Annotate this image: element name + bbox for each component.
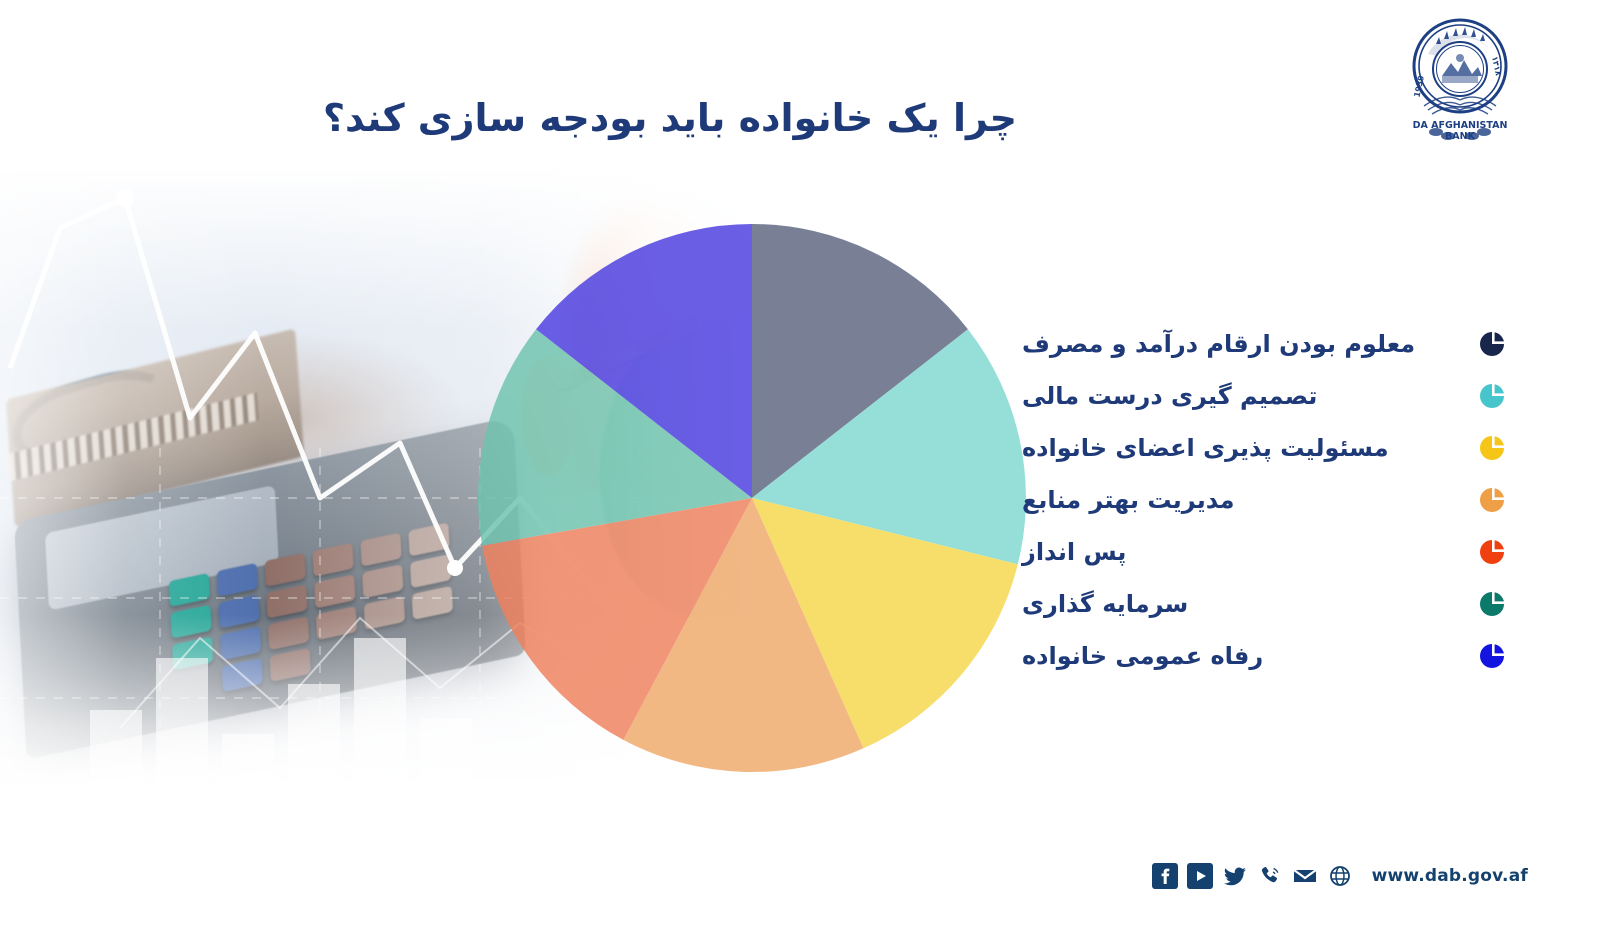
pie-chart-icon: [1478, 382, 1506, 410]
legend-edge-artifact: [1524, 383, 1538, 409]
pie-chart-icon: [1478, 538, 1506, 566]
pie-chart-icon: [1478, 486, 1506, 514]
legend-item-label: پس انداز: [1018, 538, 1460, 566]
youtube-icon[interactable]: [1187, 863, 1213, 889]
legend-item-label: رفاه عمومی خانواده: [1018, 642, 1460, 670]
legend-item-label: مدیریت بهتر منابع: [1018, 486, 1460, 514]
legend-item[interactable]: سرمایه گذاری: [1018, 578, 1538, 630]
legend-item-label: سرمایه گذاری: [1018, 590, 1460, 618]
pie-chart-icon: [1478, 590, 1506, 618]
legend-item[interactable]: معلوم بودن ارقام درآمد و مصرف: [1018, 318, 1538, 370]
pie-slices: [478, 222, 1026, 774]
pie-chart: [478, 222, 1026, 774]
legend-item[interactable]: پس انداز: [1018, 526, 1538, 578]
legend-edge-artifact: [1524, 643, 1538, 669]
pie-chart-icon: [1478, 642, 1506, 670]
da-afghanistan-bank-logo: 1939 ١٣١٨ DA AFGHANISTAN: [1398, 14, 1522, 142]
pie-chart-icon: [1478, 434, 1506, 462]
legend-edge-artifact: [1524, 487, 1538, 513]
logo-line1: DA AFGHANISTAN: [1413, 120, 1508, 131]
twitter-icon[interactable]: [1222, 863, 1248, 889]
legend-edge-artifact: [1524, 435, 1538, 461]
legend-item[interactable]: مدیریت بهتر منابع: [1018, 474, 1538, 526]
pie-chart-icon: [1478, 330, 1506, 358]
phone-icon[interactable]: [1257, 863, 1283, 889]
poster-canvas: چرا یک خانواده باید بودجه سازی کند؟ 1939…: [0, 0, 1600, 925]
footer-bar: www.dab.gov.af: [1152, 863, 1528, 889]
legend-item-label: تصمیم گیری درست مالی: [1018, 382, 1460, 410]
page-title: چرا یک خانواده باید بودجه سازی کند؟: [0, 96, 1340, 140]
legend-item[interactable]: تصمیم گیری درست مالی: [1018, 370, 1538, 422]
legend-item[interactable]: مسئولیت پذیری اعضای خانواده: [1018, 422, 1538, 474]
legend-edge-artifact: [1524, 331, 1538, 357]
legend-edge-artifact: [1524, 591, 1538, 617]
pie-chart-slices: [478, 222, 1026, 774]
globe-icon[interactable]: [1327, 863, 1353, 889]
legend-item[interactable]: رفاه عمومی خانواده: [1018, 630, 1538, 682]
facebook-icon[interactable]: [1152, 863, 1178, 889]
legend-item-label: معلوم بودن ارقام درآمد و مصرف: [1018, 330, 1460, 358]
website-url[interactable]: www.dab.gov.af: [1372, 866, 1528, 886]
legend-list: معلوم بودن ارقام درآمد و مصرف تصمیم گیری…: [1018, 318, 1538, 682]
email-icon[interactable]: [1292, 863, 1318, 889]
legend-edge-artifact: [1524, 539, 1538, 565]
legend-item-label: مسئولیت پذیری اعضای خانواده: [1018, 434, 1460, 462]
